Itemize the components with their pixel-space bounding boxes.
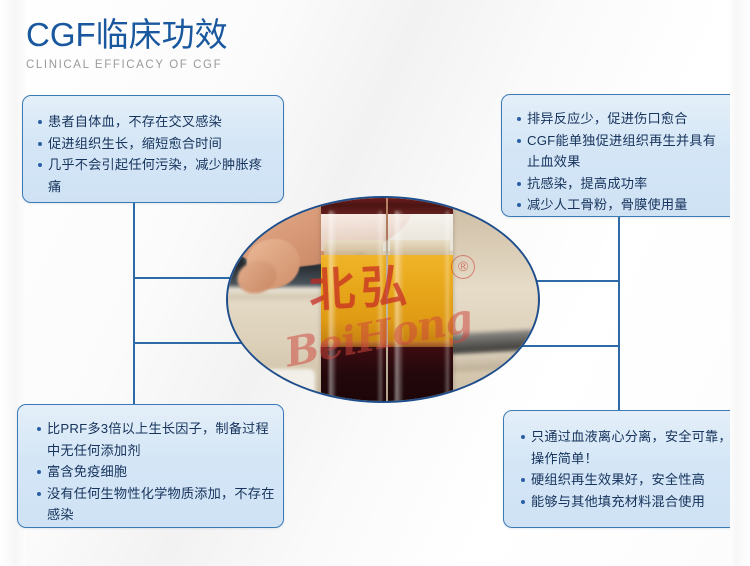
page-subtitle: CLINICAL EFFICACY OF CGF [26, 59, 228, 72]
list-item: 比PRF多3倍以上生长因子，制备过程中无任何添加剂 [36, 418, 275, 461]
list-item: 抗感染，提高成功率 [516, 173, 729, 195]
list-item: 富含免疫细胞 [36, 461, 275, 483]
list-item: 排异反应少，促进伤口愈合 [516, 108, 729, 130]
list-item: 没有任何生物性化学物质添加，不存在感染 [36, 483, 275, 526]
list-item: 减少人工骨粉，骨膜使用量 [516, 194, 729, 216]
infographic-page: CGF临床功效 CLINICAL EFFICACY OF CGF 患者自体血，不… [0, 0, 750, 566]
benefit-list-bottom-right: 只通过血液离心分离，安全可靠，操作简单！ 硬组织再生效果好，安全性高 能够与其他… [520, 426, 732, 512]
list-item: 只通过血液离心分离，安全可靠，操作简单！ [520, 426, 732, 469]
list-item: 患者自体血，不存在交叉感染 [37, 111, 273, 133]
benefit-box-top-left: 患者自体血，不存在交叉感染 促进组织生长，缩短愈合时间 几乎不会引起任何污染，减… [22, 95, 284, 203]
page-title-block: CGF临床功效 CLINICAL EFFICACY OF CGF [26, 16, 228, 72]
page-title: CGF临床功效 [26, 16, 228, 54]
list-item: 几乎不会引起任何污染，减少肿胀疼痛 [37, 154, 273, 197]
photo-background-cup [262, 369, 315, 403]
list-item: 促进组织生长，缩短愈合时间 [37, 133, 273, 155]
watermark-chinese: 北弘 [307, 262, 413, 313]
benefit-list-bottom-left: 比PRF多3倍以上生长因子，制备过程中无任何添加剂 富含免疫细胞 没有任何生物性… [36, 418, 275, 526]
list-item: 能够与其他填充材料混合使用 [520, 491, 732, 513]
registered-mark-icon: ® [451, 255, 475, 279]
list-item: 硬组织再生效果好，安全性高 [520, 469, 732, 491]
centrifuged-blood-tubes-photo: 北弘 ® BeiHong [226, 196, 540, 403]
connector-left-vertical [133, 203, 135, 408]
benefit-box-bottom-right: 只通过血液离心分离，安全可靠，操作简单！ 硬组织再生效果好，安全性高 能够与其他… [503, 410, 741, 528]
connector-right-vertical [618, 217, 620, 410]
benefit-box-bottom-left: 比PRF多3倍以上生长因子，制备过程中无任何添加剂 富含免疫细胞 没有任何生物性… [17, 404, 284, 528]
list-item: CGF能单独促进组织再生并具有止血效果 [516, 130, 729, 173]
benefit-list-top-right: 排异反应少，促进伤口愈合 CGF能单独促进组织再生并具有止血效果 抗感染，提高成… [516, 108, 729, 216]
benefit-list-top-left: 患者自体血，不存在交叉感染 促进组织生长，缩短愈合时间 几乎不会引起任何污染，减… [37, 111, 273, 197]
